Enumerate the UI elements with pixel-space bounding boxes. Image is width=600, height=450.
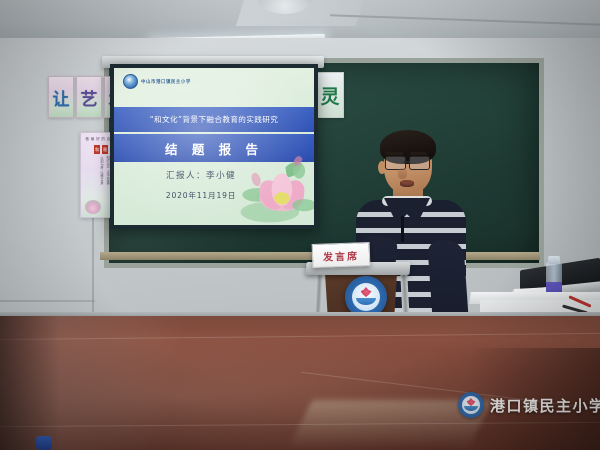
watermark-badge-icon [458,392,484,418]
lotus-flower-icon [232,145,314,225]
projector-screen: 中山市港口镇民主小学 “和文化”背景下融合教育的实践研究 结 题 报 告 汇报人… [110,64,318,229]
poster-column: 以和为贵 以雅立身 [99,156,103,196]
calligraphy-char: 灵 [320,82,339,109]
eyeglasses-icon [385,156,431,168]
calligraphy-card-right: 灵 [316,72,344,118]
slide-school-logo: 中山市港口镇民主小学 [123,74,191,89]
presenter-eyebrow [410,152,427,155]
presenter-nose [398,168,407,179]
watermark-text: 港口镇民主小学 [490,395,600,416]
photograph-scene: 让 艺 术 做 最 好 的 自 己 和 雅 美 以和为贵 以雅立身 知行合一 止… [0,0,600,450]
poster-chip: 雅 [102,145,108,154]
watermark-flower-icon [467,398,476,406]
podium-sign-text: 发言席 [323,247,360,263]
watermark: 港口镇民主小学 [458,392,600,418]
emblem-flower-icon [361,287,372,297]
presentation-slide: 中山市港口镇民主小学 “和文化”背景下融合教育的实践研究 结 题 报 告 汇报人… [114,68,314,225]
poster-flower-graphic [85,200,101,214]
slide-title-band: “和文化”背景下融合教育的实践研究 [114,107,314,132]
blue-object-on-floor [36,436,52,450]
emblem-inner [352,283,380,311]
slide-title: “和文化”背景下融合教育的实践研究 [150,114,279,125]
emblem-wave-icon [356,298,376,305]
presenter-eyebrow [386,152,403,155]
school-logo-icon [123,74,138,89]
watermark-badge-inner [462,396,480,414]
podium-sign: 发言席 [312,242,371,268]
poster-chip: 和 [94,145,100,154]
watermark-wave-icon [464,406,478,411]
school-logo-text: 中山市港口镇民主小学 [141,79,191,85]
calligraphy-card: 让 [48,76,74,118]
floor-shadow-left [0,316,60,450]
presenter-mouth [400,180,414,187]
water-bottle-cap [548,256,560,264]
wall-seam [92,215,94,320]
calligraphy-char: 让 [53,85,70,110]
presenter-shirt-placket [401,216,404,242]
calligraphy-card: 艺 [76,76,102,118]
calligraphy-char: 艺 [81,85,98,110]
wall-seam [0,300,95,302]
